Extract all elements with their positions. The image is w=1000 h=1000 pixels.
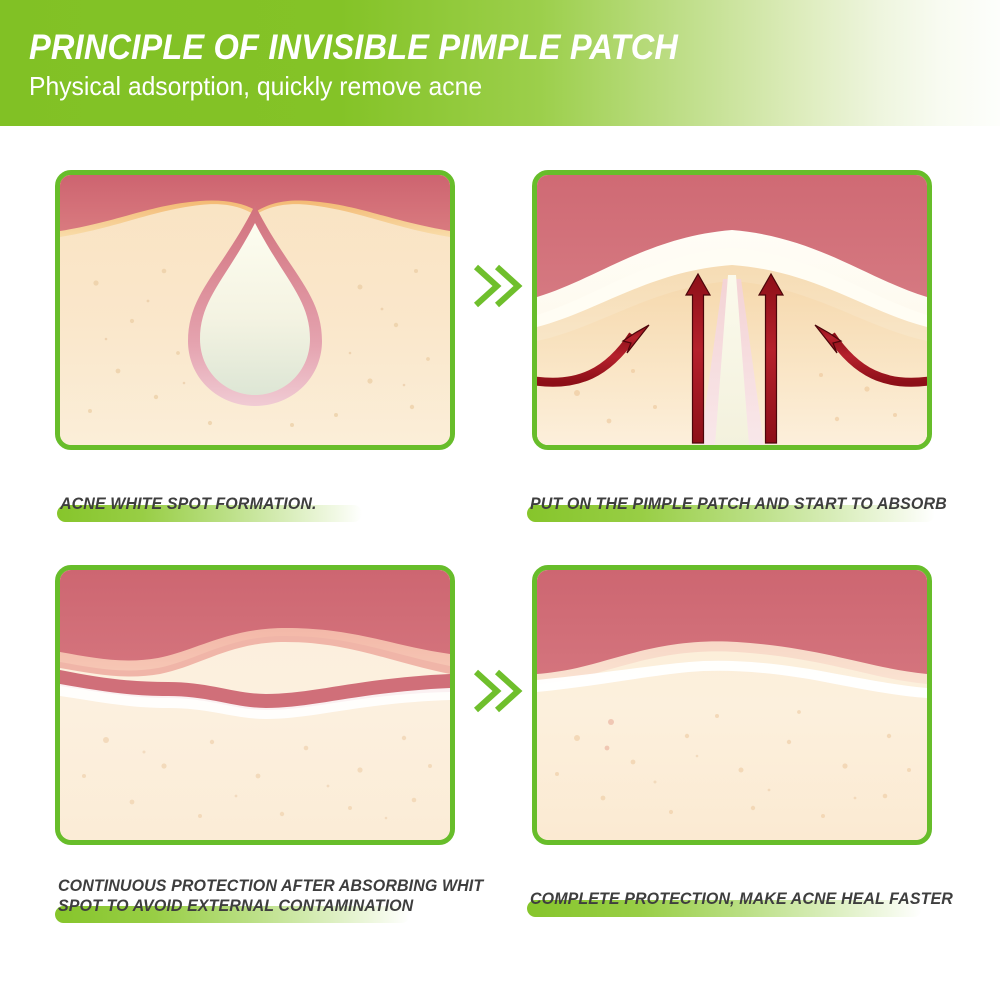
- caption-text-line-1: CONTINUOUS PROTECTION AFTER ABSORBING WH…: [58, 876, 483, 896]
- skin-after-absorption-illustration: [60, 570, 450, 840]
- step-caption-3: CONTINUOUS PROTECTION AFTER ABSORBING WH…: [58, 876, 496, 916]
- caption-text: PUT ON THE PIMPLE PATCH AND START TO ABS…: [530, 494, 947, 514]
- step-illustration-2: [532, 170, 932, 450]
- step-illustration-3: [55, 565, 455, 845]
- caption-text-line-2: SPOT TO AVOID EXTERNAL CONTAMINATION: [58, 896, 483, 916]
- step-caption-4: COMPLETE PROTECTION, MAKE ACNE HEAL FAST…: [530, 889, 966, 909]
- infographic-page: PRINCIPLE OF INVISIBLE PIMPLE PATCH Phys…: [0, 0, 1000, 1000]
- step-caption-1: ACNE WHITE SPOT FORMATION.: [60, 494, 324, 514]
- caption-text: COMPLETE PROTECTION, MAKE ACNE HEAL FAST…: [530, 889, 953, 909]
- page-subtitle: Physical adsorption, quickly remove acne: [29, 71, 482, 101]
- header-banner: PRINCIPLE OF INVISIBLE PIMPLE PATCH Phys…: [0, 0, 1000, 126]
- skin-healed-illustration: [537, 570, 927, 840]
- connector-1-double-chevron-right-icon: [470, 262, 526, 310]
- page-title: PRINCIPLE OF INVISIBLE PIMPLE PATCH: [29, 29, 678, 67]
- patch-absorbing-illustration: [537, 175, 927, 445]
- caption-text: ACNE WHITE SPOT FORMATION.: [60, 494, 317, 514]
- step-caption-2: PUT ON THE PIMPLE PATCH AND START TO ABS…: [530, 494, 960, 514]
- step-illustration-1: [55, 170, 455, 450]
- connector-2-double-chevron-right-icon: [470, 667, 526, 715]
- acne-white-spot-illustration: [60, 175, 450, 445]
- step-illustration-4: [532, 565, 932, 845]
